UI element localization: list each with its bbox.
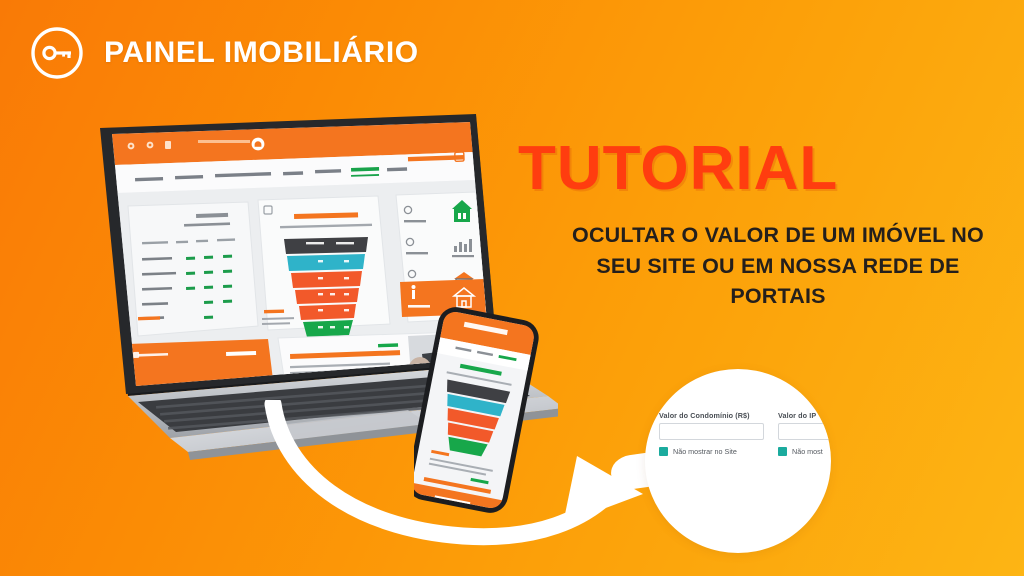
tutorial-heading: TUTORIAL: [518, 138, 988, 200]
iptu-hide-checkbox-row[interactable]: Não most: [778, 447, 831, 456]
zoom-callout: Valor do Condomínio (R$) Não mostrar no …: [645, 369, 831, 553]
iptu-hide-checkbox[interactable]: [778, 447, 787, 456]
iptu-value-field-group: Valor do IP Não most: [778, 411, 831, 456]
condominium-value-input[interactable]: [659, 423, 764, 440]
iptu-hide-label: Não most: [792, 447, 823, 456]
condominium-hide-label: Não mostrar no Site: [673, 447, 737, 456]
key-in-circle-icon: [28, 24, 86, 82]
iptu-value-label: Valor do IP: [778, 411, 831, 420]
condominium-value-label: Valor do Condomínio (R$): [659, 411, 764, 420]
header: PAINEL IMOBILIÁRIO: [28, 24, 419, 82]
condominium-value-field-group: Valor do Condomínio (R$) Não mostrar no …: [659, 411, 764, 456]
condominium-hide-checkbox[interactable]: [659, 447, 668, 456]
brand-title: PAINEL IMOBILIÁRIO: [104, 36, 419, 70]
iptu-value-input[interactable]: [778, 423, 831, 440]
curved-arrow-icon: [255, 400, 675, 565]
condominium-hide-checkbox-row[interactable]: Não mostrar no Site: [659, 447, 764, 456]
tutorial-subtitle: OCULTAR O VALOR DE UM IMÓVEL NO SEU SITE…: [548, 220, 1008, 312]
